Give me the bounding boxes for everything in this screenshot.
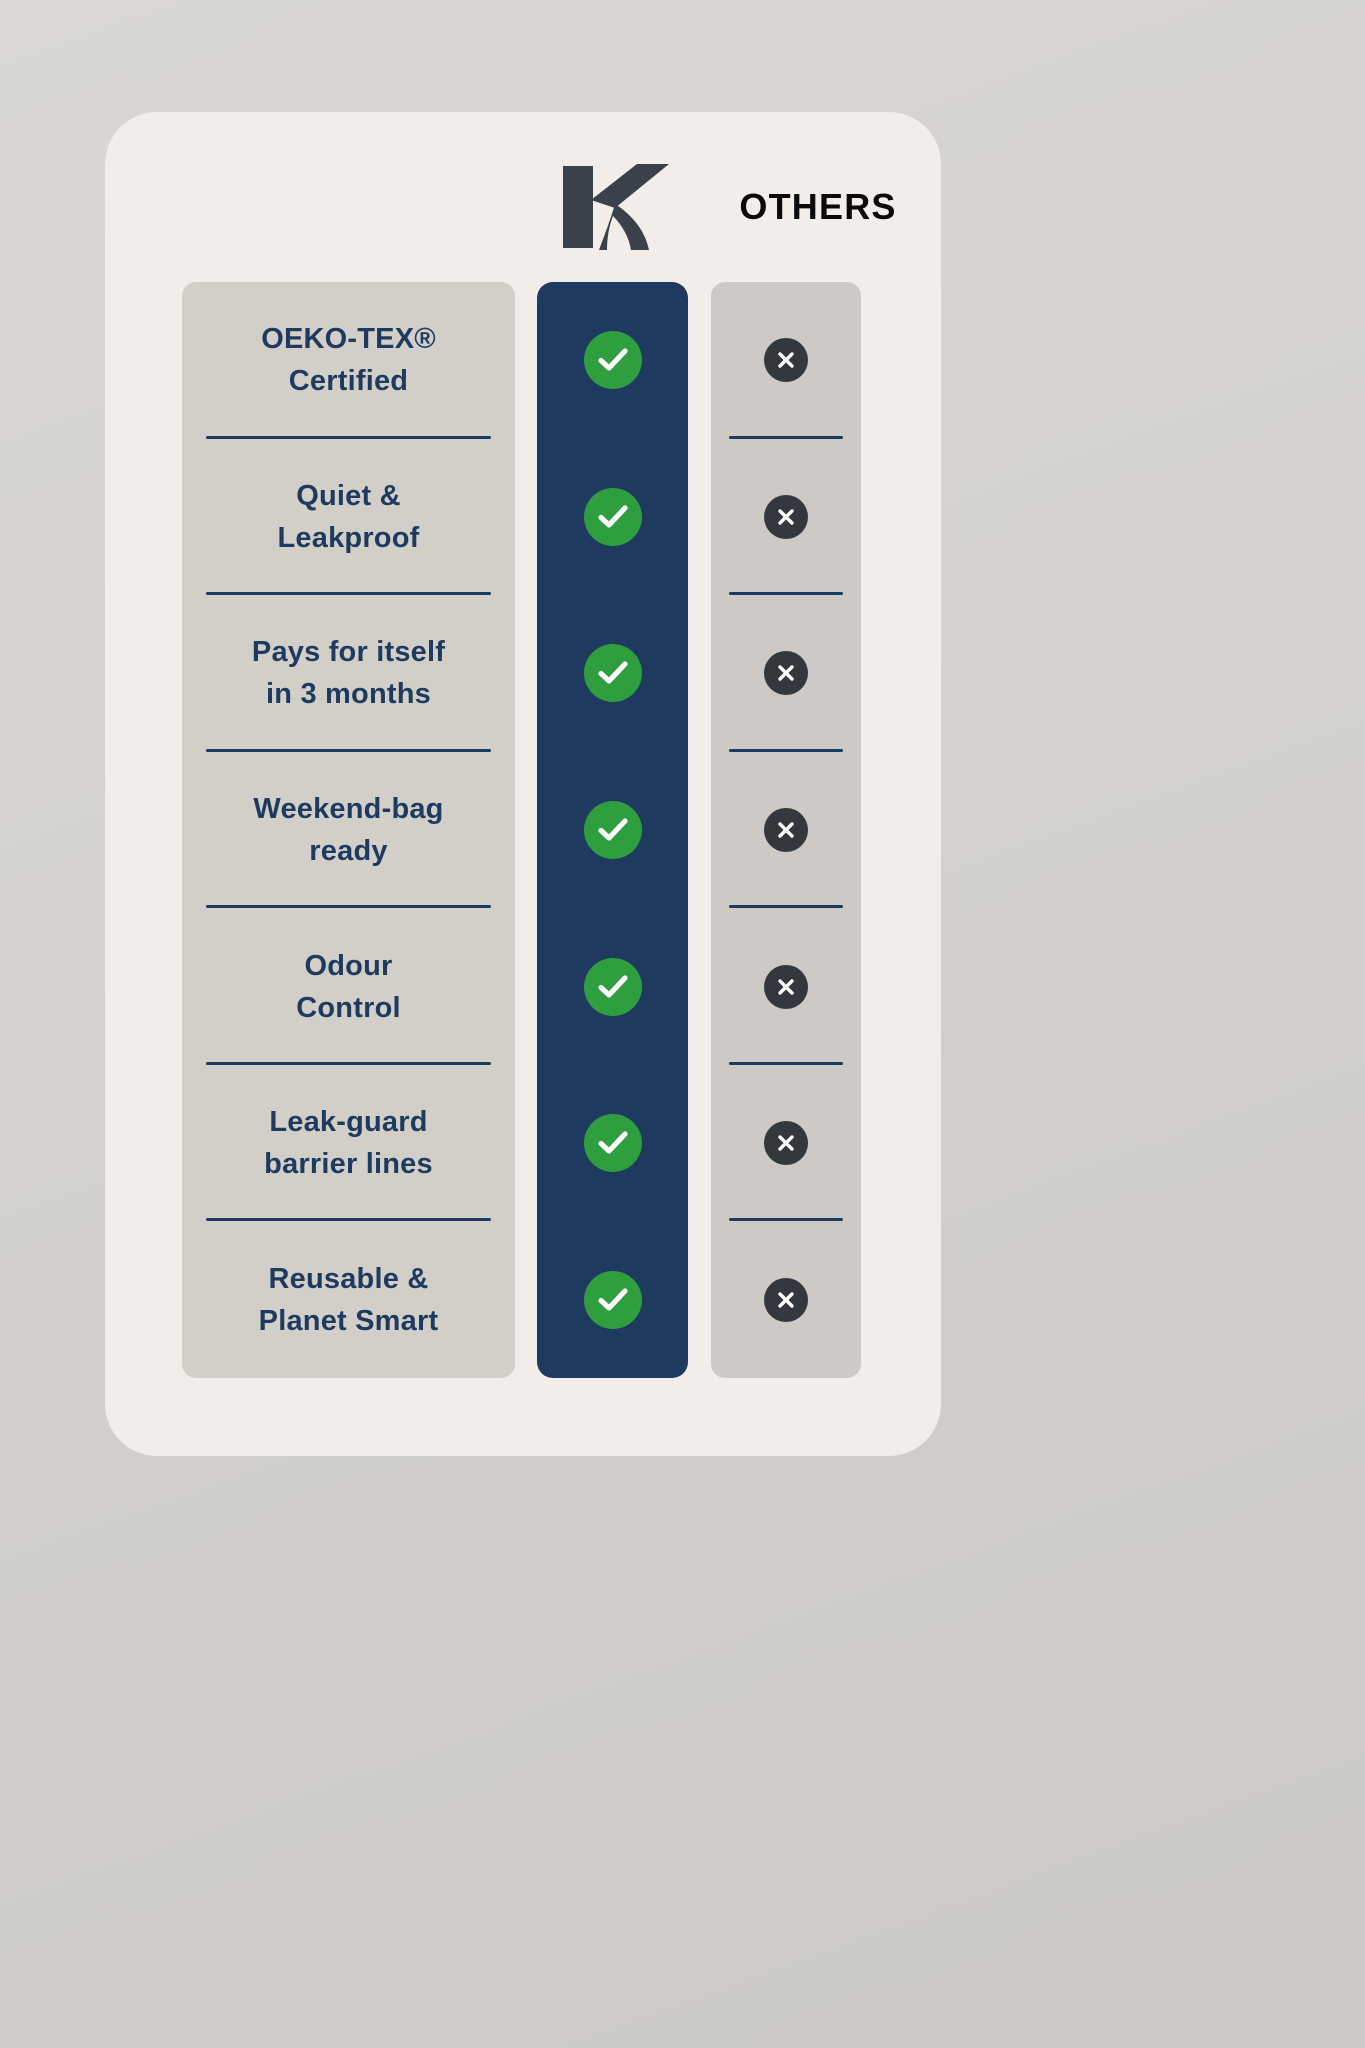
- comparison-cell-row: [711, 752, 861, 909]
- feature-label-reusable-planet-smart: Reusable &Planet Smart: [241, 1258, 457, 1342]
- features-column: OEKO-TEX®Certified Quiet &Leakproof Pays…: [182, 282, 515, 1378]
- comparison-cell-row: [537, 1065, 688, 1222]
- check-icon: [584, 644, 642, 702]
- check-icon: [584, 488, 642, 546]
- feature-label-pays-for-itself: Pays for itselfin 3 months: [234, 631, 463, 715]
- check-icon: [584, 1114, 642, 1172]
- comparison-cell-row: [711, 282, 861, 439]
- cross-icon: [764, 965, 808, 1009]
- page-root: OTHERS OEKO-TEX®Certified Quiet &Leakpro…: [0, 0, 1365, 2048]
- check-icon: [584, 1271, 642, 1329]
- check-icon: [584, 801, 642, 859]
- comparison-cell-row: [537, 282, 688, 439]
- comparison-card: OTHERS OEKO-TEX®Certified Quiet &Leakpro…: [105, 112, 941, 1456]
- feature-label-weekend-bag-ready: Weekend-bagready: [235, 788, 461, 872]
- comparison-cell-row: [537, 1221, 688, 1378]
- others-column: [711, 282, 861, 1378]
- brand-column: [537, 282, 688, 1378]
- cross-icon: [764, 338, 808, 382]
- comparison-cell-row: [711, 1221, 861, 1378]
- comparison-cell-row: [537, 595, 688, 752]
- feature-label-quiet-leakproof: Quiet &Leakproof: [260, 475, 438, 559]
- comparison-cell-row: [537, 439, 688, 596]
- comparison-cell-row: [537, 908, 688, 1065]
- comparison-cell-row: [711, 908, 861, 1065]
- k-logo-icon: [537, 160, 687, 254]
- cross-icon: [764, 1278, 808, 1322]
- feature-label-odour-control: OdourControl: [278, 945, 419, 1029]
- feature-row: OdourControl: [182, 908, 515, 1065]
- feature-row: Leak-guardbarrier lines: [182, 1065, 515, 1222]
- comparison-cell-row: [711, 1065, 861, 1222]
- others-column-header: OTHERS: [695, 160, 941, 254]
- comparison-columns: OEKO-TEX®Certified Quiet &Leakproof Pays…: [105, 282, 941, 1386]
- check-icon: [584, 331, 642, 389]
- comparison-cell-row: [711, 439, 861, 596]
- feature-row: Weekend-bagready: [182, 752, 515, 909]
- feature-row: Reusable &Planet Smart: [182, 1221, 515, 1378]
- cross-icon: [764, 495, 808, 539]
- feature-label-oeko-tex-certified: OEKO-TEX®Certified: [243, 318, 454, 402]
- cross-icon: [764, 651, 808, 695]
- cross-icon: [764, 808, 808, 852]
- feature-row: OEKO-TEX®Certified: [182, 282, 515, 439]
- check-icon: [584, 958, 642, 1016]
- comparison-header: OTHERS: [105, 112, 941, 282]
- feature-row: Quiet &Leakproof: [182, 439, 515, 596]
- comparison-cell-row: [711, 595, 861, 752]
- cross-icon: [764, 1121, 808, 1165]
- feature-label-leak-guard-barrier-lines: Leak-guardbarrier lines: [246, 1101, 451, 1185]
- comparison-cell-row: [537, 752, 688, 909]
- feature-row: Pays for itselfin 3 months: [182, 595, 515, 752]
